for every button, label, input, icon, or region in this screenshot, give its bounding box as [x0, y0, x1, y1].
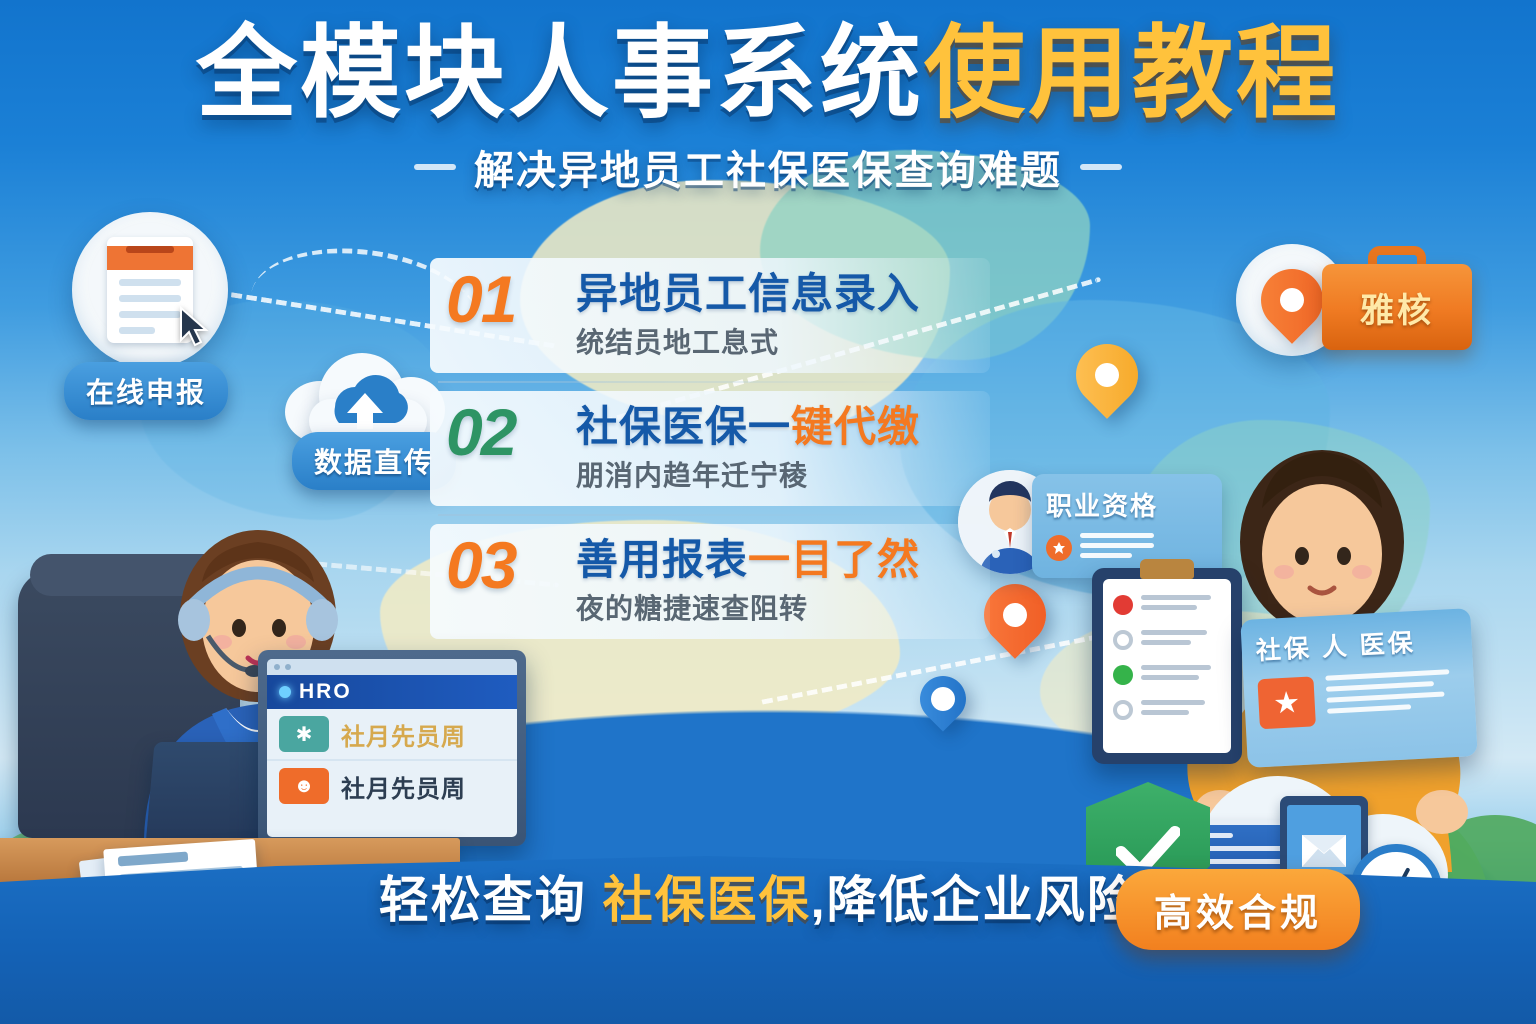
- clipboard-paper: [1103, 579, 1231, 753]
- app-header: HRO: [267, 675, 517, 709]
- step-subtext-02: 朋消内趋年迁宁稜: [576, 454, 920, 494]
- title-gold: 使用教程: [924, 18, 1340, 130]
- step-number-01: 01: [446, 268, 554, 331]
- star-icon: ✱: [279, 716, 329, 752]
- step-subtext-01: 统结员地工息式: [576, 321, 920, 361]
- banner-text-gold: 社保医保: [603, 872, 811, 928]
- screen-row-2[interactable]: ☻ 社月先员周: [267, 759, 517, 811]
- step-item-02[interactable]: 02 社保医保一键代缴 朋消内趋年迁宁稜: [430, 391, 990, 506]
- checklist-row: [1113, 665, 1221, 685]
- page-subtitle: 解决异地员工社保医保查询难题: [474, 138, 1062, 196]
- subtitle-dash-right: [1080, 164, 1122, 170]
- step-number-03: 03: [446, 534, 554, 597]
- check-red-icon: [1113, 595, 1133, 615]
- step-head-hl-03: 一目了然: [748, 536, 920, 583]
- banner-slogan: 轻松查询 社保医保,降低企业风险!: [379, 860, 1157, 932]
- screen-row-1[interactable]: ✱ 社月先员周: [267, 709, 517, 759]
- step-heading-02: 社保医保一键代缴: [576, 403, 920, 450]
- app-logo-icon: [279, 686, 291, 698]
- ss-card-lines: [1325, 669, 1451, 725]
- ss-card-title: 社保 人 医保: [1255, 621, 1459, 668]
- infographic-poster: 全模块人事系统使用教程 解决异地员工社保医保查询难题 在线申报: [0, 0, 1536, 1024]
- step-item-03[interactable]: 03 善用报表一目了然 夜的糖捷速查阻转: [430, 524, 990, 639]
- document-header-bar: [107, 246, 193, 270]
- step-number-02: 02: [446, 401, 554, 464]
- steps-list: 01 异地员工信息录入 统结员地工息式 02 社保医保一键代缴 朋消内趋年迁宁稜…: [430, 258, 990, 657]
- step-subtext-03: 夜的糖捷速查阻转: [576, 587, 920, 627]
- document-badge-icon: [72, 212, 228, 368]
- banner-text-before: 轻松查询: [379, 872, 587, 928]
- window-titlebar: [267, 659, 517, 675]
- clipboard-clip: [1140, 559, 1194, 579]
- cloud-icon: [285, 347, 445, 443]
- title-block: 全模块人事系统使用教程 解决异地员工社保医保查询难题: [0, 18, 1536, 196]
- monitor: HRO ✱ 社月先员周 ☻ 社月先员周: [258, 650, 526, 846]
- title-white: 全模块人事系统: [196, 18, 924, 130]
- step-head-main-02: 社保医保一: [576, 403, 791, 450]
- upload-arrow-icon: [317, 373, 413, 435]
- step-head-main-01: 异地员工信息录入: [576, 270, 920, 317]
- step-heading-01: 异地员工信息录入: [576, 270, 920, 317]
- step-head-hl-02: 键代缴: [791, 403, 920, 450]
- briefcase-label: 雅核: [1322, 264, 1472, 350]
- app-name: HRO: [299, 680, 352, 704]
- page-title: 全模块人事系统使用教程: [0, 18, 1536, 131]
- screen-row-2-label: 社月先员周: [341, 769, 466, 804]
- check-green-icon: [1113, 665, 1133, 685]
- id-card-seal-icon: [1046, 535, 1072, 561]
- checklist-clipboard: [1092, 568, 1242, 764]
- cursor-icon: [178, 306, 212, 348]
- screen-row-1-label: 社月先员周: [341, 717, 466, 752]
- social-security-card: 社保 人 医保 ★: [1240, 608, 1477, 768]
- subtitle-dash-left: [414, 164, 456, 170]
- check-empty-icon: [1113, 630, 1133, 650]
- briefcase-badge: 雅核: [1322, 246, 1472, 350]
- checklist-row: [1113, 630, 1221, 650]
- step-head-main-03: 善用报表: [576, 536, 748, 583]
- badge-label-online-filing[interactable]: 在线申报: [64, 362, 228, 420]
- subtitle-row: 解决异地员工社保医保查询难题: [0, 138, 1536, 196]
- monitor-screen: HRO ✱ 社月先员周 ☻ 社月先员周: [267, 659, 517, 837]
- checklist-row: [1113, 700, 1221, 720]
- person-icon: ☻: [279, 768, 329, 804]
- check-empty-icon: [1113, 700, 1133, 720]
- step-heading-03: 善用报表一目了然: [576, 536, 920, 583]
- banner-text-after: ,降低企业风险!: [811, 872, 1158, 928]
- star-badge-icon: ★: [1257, 676, 1316, 729]
- checklist-row: [1113, 595, 1221, 615]
- cta-button[interactable]: 高效合规: [1116, 869, 1360, 950]
- step-item-01[interactable]: 01 异地员工信息录入 统结员地工息式: [430, 258, 990, 373]
